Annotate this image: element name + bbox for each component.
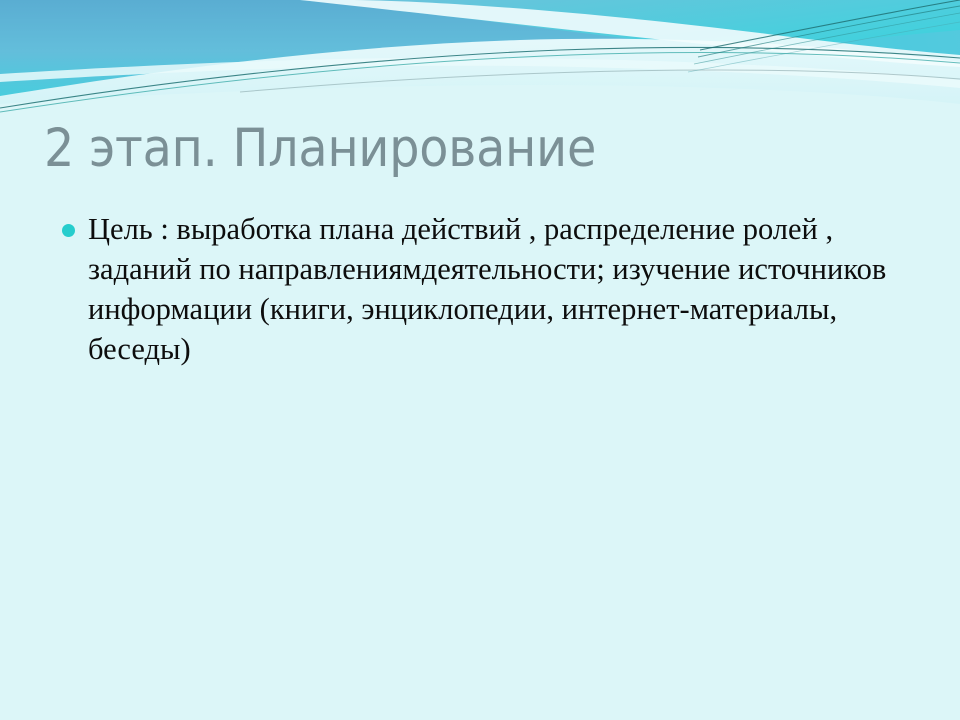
wave-pale-midband xyxy=(0,39,960,115)
wave-ribbon-header xyxy=(0,0,960,115)
slide-canvas: 2 этап. Планирование Цель : выработка пл… xyxy=(0,0,960,720)
bullet-marker-icon xyxy=(62,224,75,237)
wave-ribbon-graphic xyxy=(0,0,960,115)
slide-body-list: Цель : выработка плана действий , распре… xyxy=(56,209,906,369)
list-item: Цель : выработка плана действий , распре… xyxy=(56,209,906,369)
wave-strand-dark-2 xyxy=(700,0,960,50)
wave-white-streak-lower xyxy=(0,58,960,88)
wave-strand-dark-3 xyxy=(698,6,960,57)
wave-strand-dark-4 xyxy=(694,13,960,64)
wave-cyan-ribbon xyxy=(0,30,960,115)
wave-white-highlight xyxy=(300,0,960,67)
wave-strand-dark-5 xyxy=(688,22,960,72)
wave-strand-gray-1 xyxy=(240,70,960,92)
slide-title: 2 этап. Планирование xyxy=(44,119,904,179)
wave-base-blue xyxy=(0,0,960,115)
wave-strand-teal-1 xyxy=(0,53,960,112)
wave-blue-sweep xyxy=(300,0,960,74)
bullet-item-text: Цель : выработка плана действий , распре… xyxy=(88,209,906,369)
wave-strand-dark-1 xyxy=(0,48,960,108)
wave-bottom-fade xyxy=(0,85,960,115)
